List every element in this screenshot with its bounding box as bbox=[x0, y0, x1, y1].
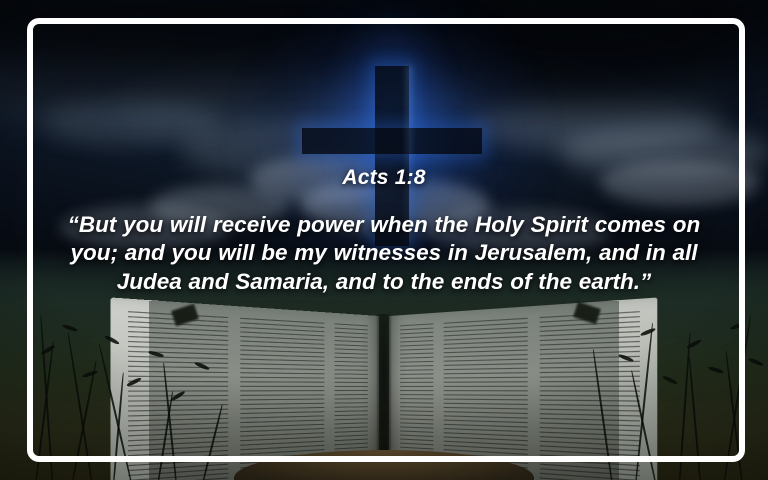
scripture-reference: Acts 1:8 bbox=[39, 166, 729, 189]
open-bible bbox=[149, 301, 619, 480]
scripture-quote-card: Acts 1:8 “But you will receive power whe… bbox=[0, 0, 768, 480]
scripture-text-block: Acts 1:8 “But you will receive power whe… bbox=[39, 166, 729, 296]
scripture-verse: “But you will receive power when the Hol… bbox=[39, 211, 729, 296]
